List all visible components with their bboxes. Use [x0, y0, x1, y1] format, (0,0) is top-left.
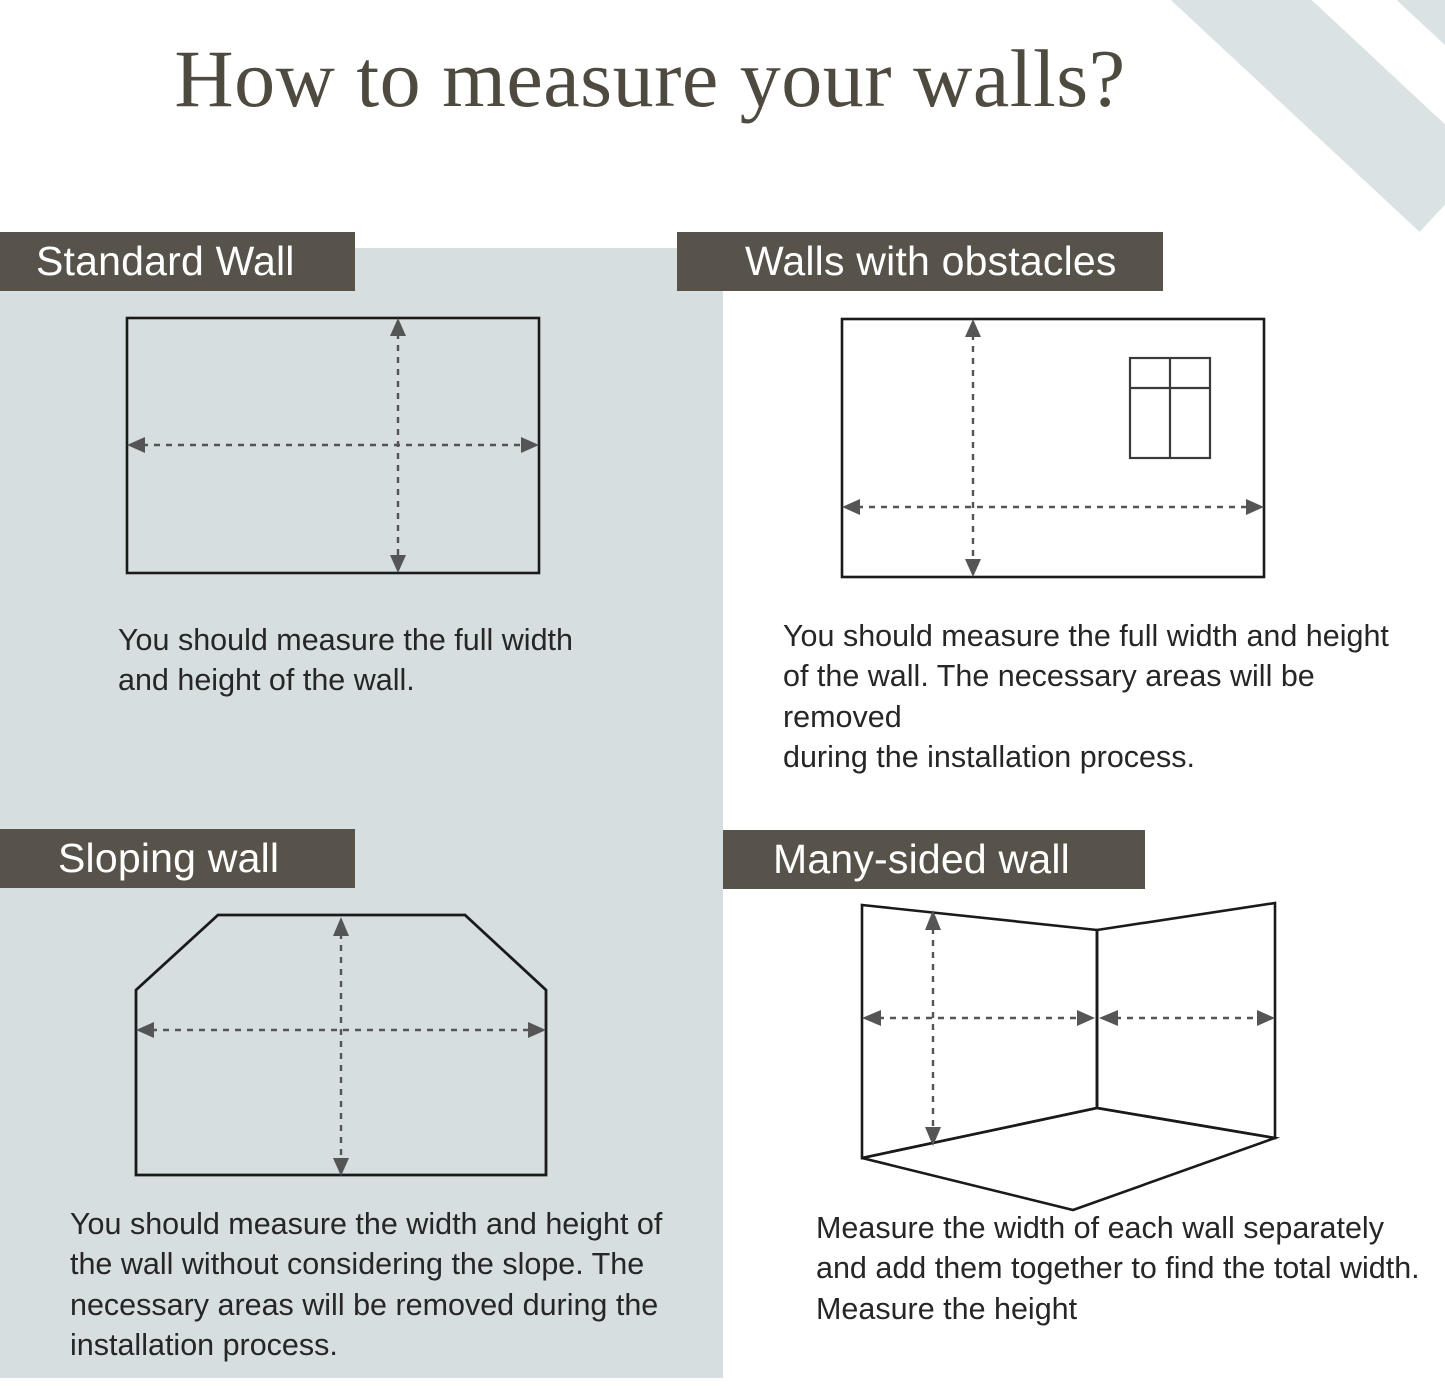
left-width-arrowhead-left: [862, 1010, 881, 1026]
right-width-arrowhead-right: [1257, 1010, 1275, 1026]
width-arrowhead-left: [136, 1022, 154, 1038]
section-header-label: Standard Wall: [36, 238, 295, 285]
section-body-standard-wall: You should measure the full width and he…: [118, 620, 638, 701]
diagram-walls-with-obstacles: [830, 300, 1290, 590]
infographic-canvas: How to measure your walls? Standard Wall…: [0, 0, 1445, 1386]
height-arrowhead-bottom: [390, 555, 406, 573]
section-header-label: Sloping wall: [58, 835, 279, 882]
height-arrowhead-top: [333, 917, 349, 936]
width-arrowhead-left: [127, 437, 145, 453]
page-title: How to measure your walls?: [0, 36, 1300, 122]
width-arrowhead-right: [528, 1022, 546, 1038]
section-header-label: Walls with obstacles: [745, 238, 1117, 285]
section-body-sloping-wall: You should measure the width and height …: [70, 1204, 670, 1365]
section-body-many-sided-wall: Measure the width of each wall separatel…: [816, 1208, 1436, 1329]
section-body-walls-with-obstacles: You should measure the full width and he…: [783, 616, 1423, 777]
window-icon: [1130, 358, 1210, 458]
right-wall-face: [1097, 903, 1275, 1138]
width-arrowhead-right: [521, 437, 539, 453]
diagram-many-sided-wall: [845, 890, 1305, 1220]
right-width-arrowhead-left: [1099, 1010, 1118, 1026]
wall-outline: [127, 318, 539, 573]
width-arrowhead-right: [1246, 499, 1264, 515]
left-width-arrowhead-right: [1077, 1010, 1095, 1026]
section-header-walls-with-obstacles: Walls with obstacles: [677, 232, 1163, 291]
section-header-many-sided-wall: Many-sided wall: [723, 830, 1145, 889]
height-arrowhead-top: [390, 318, 406, 336]
floor-face: [862, 1108, 1275, 1210]
section-header-label: Many-sided wall: [773, 836, 1070, 883]
diagram-sloping-wall: [110, 900, 580, 1190]
height-arrowhead-top: [965, 319, 981, 337]
left-wall-face: [862, 905, 1097, 1158]
section-header-sloping-wall: Sloping wall: [0, 829, 355, 888]
height-arrowhead-bottom: [965, 559, 981, 577]
height-arrowhead-bottom: [333, 1158, 349, 1176]
diagram-standard-wall: [100, 295, 580, 595]
width-arrowhead-left: [842, 499, 860, 515]
section-header-standard-wall: Standard Wall: [0, 232, 355, 291]
